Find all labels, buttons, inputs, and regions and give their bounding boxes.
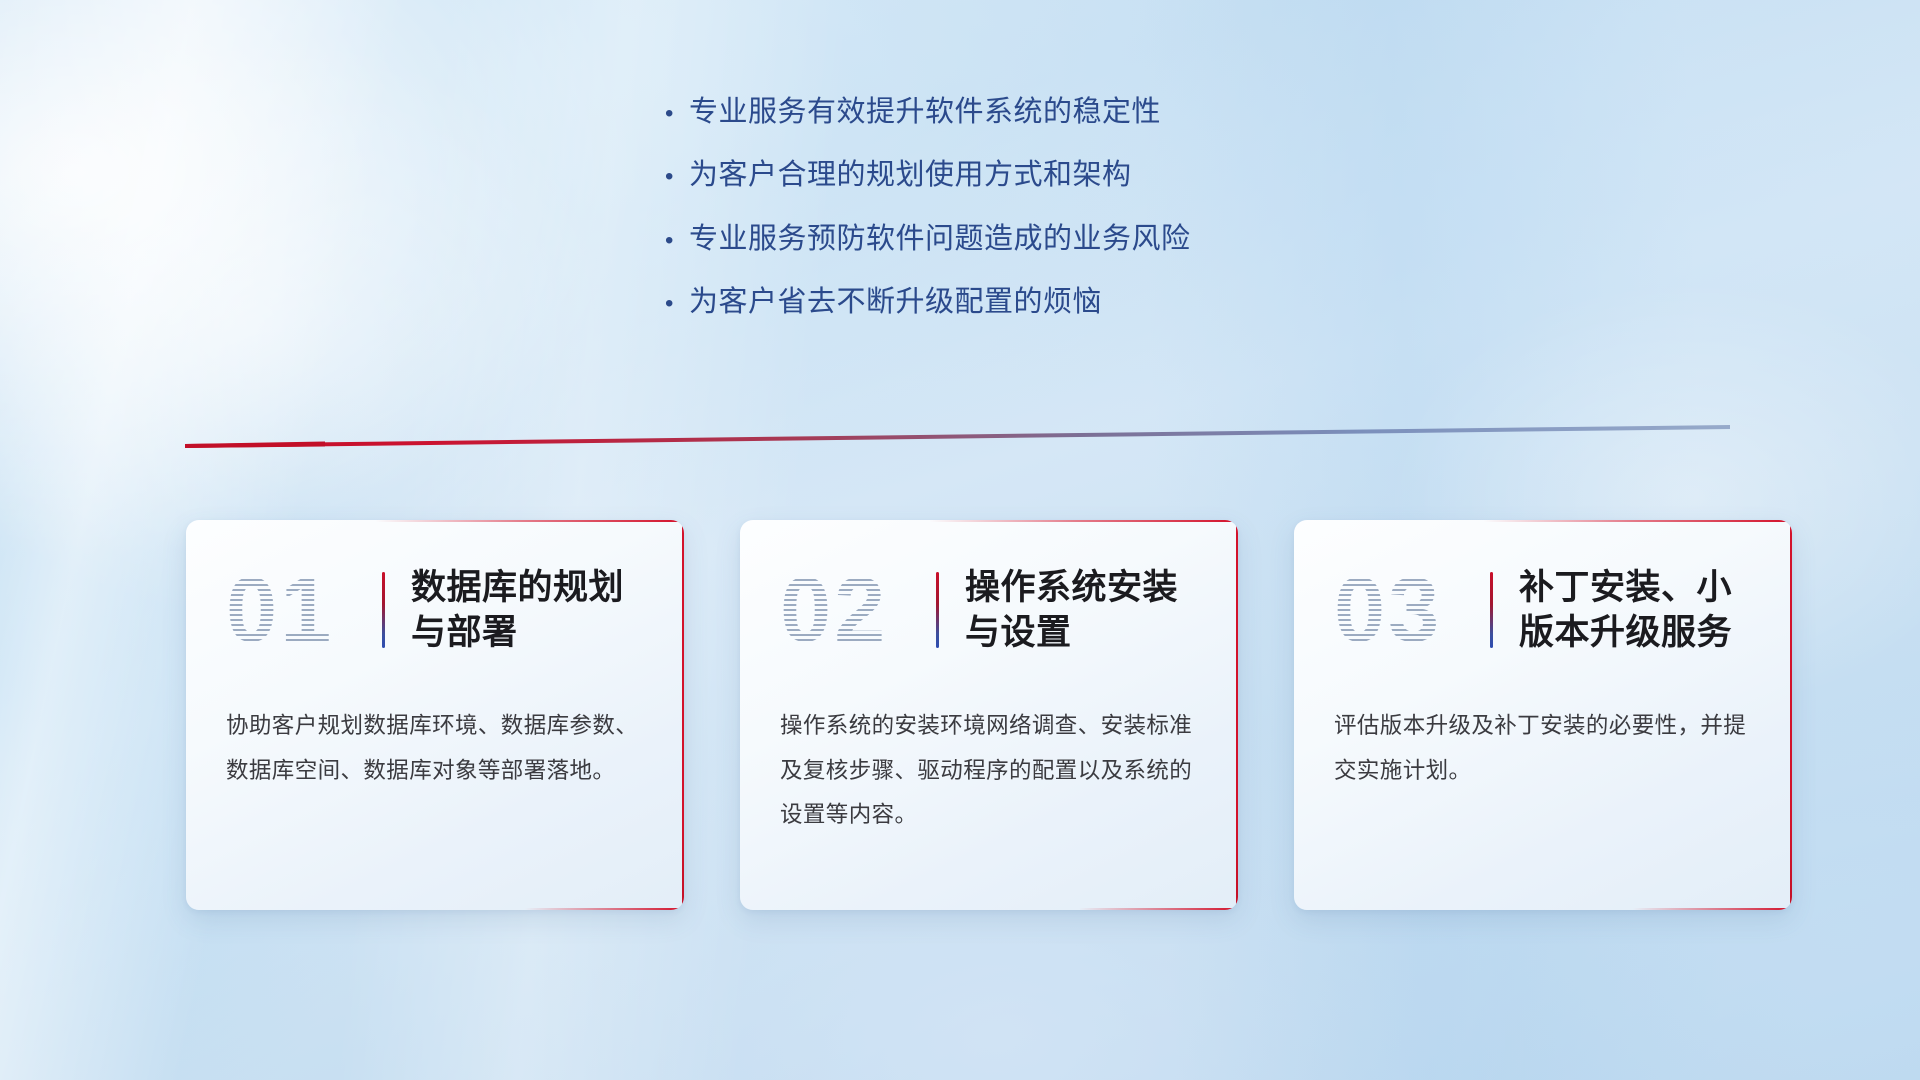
service-card[interactable]: 01 数据库的规划与部署 协助客户规划数据库环境、数据库参数、数据库空间、数据库… [186, 520, 684, 910]
card-accent-bottom [525, 908, 684, 910]
slide-canvas: • 专业服务有效提升软件系统的稳定性 • 为客户合理的规划使用方式和架构 • 专… [0, 0, 1920, 1080]
card-title: 补丁安装、小版本升级服务 [1519, 565, 1762, 656]
card-title-divider [936, 572, 939, 648]
benefits-bullet-list: • 专业服务有效提升软件系统的稳定性 • 为客户合理的规划使用方式和架构 • 专… [665, 95, 1191, 349]
divider-shape-icon [185, 425, 1730, 449]
card-description: 评估版本升级及补丁安装的必要性，并提交实施计划。 [1294, 660, 1792, 793]
service-card[interactable]: 03 补丁安装、小版本升级服务 评估版本升级及补丁安装的必要性，并提交实施计划。 [1294, 520, 1792, 910]
card-number: 01 [226, 564, 376, 656]
card-header: 03 补丁安装、小版本升级服务 [1294, 520, 1792, 660]
card-accent-bottom [1079, 908, 1238, 910]
list-item: • 专业服务有效提升软件系统的稳定性 [665, 95, 1191, 130]
card-title: 数据库的规划与部署 [411, 565, 654, 656]
card-accent-bottom [1633, 908, 1792, 910]
card-header: 01 数据库的规划与部署 [186, 520, 684, 660]
list-item: • 为客户合理的规划使用方式和架构 [665, 158, 1191, 193]
card-title-divider [1490, 572, 1493, 648]
bullet-point-icon: • [665, 165, 689, 189]
card-number: 03 [1334, 564, 1484, 656]
bullet-text: 为客户合理的规划使用方式和架构 [689, 158, 1132, 193]
bullet-point-icon: • [665, 229, 689, 253]
bullet-text: 专业服务有效提升软件系统的稳定性 [689, 95, 1161, 130]
bullet-point-icon: • [665, 292, 689, 316]
card-description: 操作系统的安装环境网络调查、安装标准及复核步骤、驱动程序的配置以及系统的设置等内… [740, 660, 1238, 838]
card-title-divider [382, 572, 385, 648]
card-header: 02 操作系统安装与设置 [740, 520, 1238, 660]
bullet-point-icon: • [665, 102, 689, 126]
service-card[interactable]: 02 操作系统安装与设置 操作系统的安装环境网络调查、安装标准及复核步骤、驱动程… [740, 520, 1238, 910]
card-title: 操作系统安装与设置 [965, 565, 1208, 656]
list-item: • 为客户省去不断升级配置的烦恼 [665, 285, 1191, 320]
card-description: 协助客户规划数据库环境、数据库参数、数据库空间、数据库对象等部署落地。 [186, 660, 684, 793]
bullet-text: 为客户省去不断升级配置的烦恼 [689, 285, 1102, 320]
section-divider [185, 425, 1730, 449]
service-card-list: 01 数据库的规划与部署 协助客户规划数据库环境、数据库参数、数据库空间、数据库… [186, 520, 1796, 920]
card-number: 02 [780, 564, 930, 656]
bullet-text: 专业服务预防软件问题造成的业务风险 [689, 222, 1191, 257]
list-item: • 专业服务预防软件问题造成的业务风险 [665, 222, 1191, 257]
